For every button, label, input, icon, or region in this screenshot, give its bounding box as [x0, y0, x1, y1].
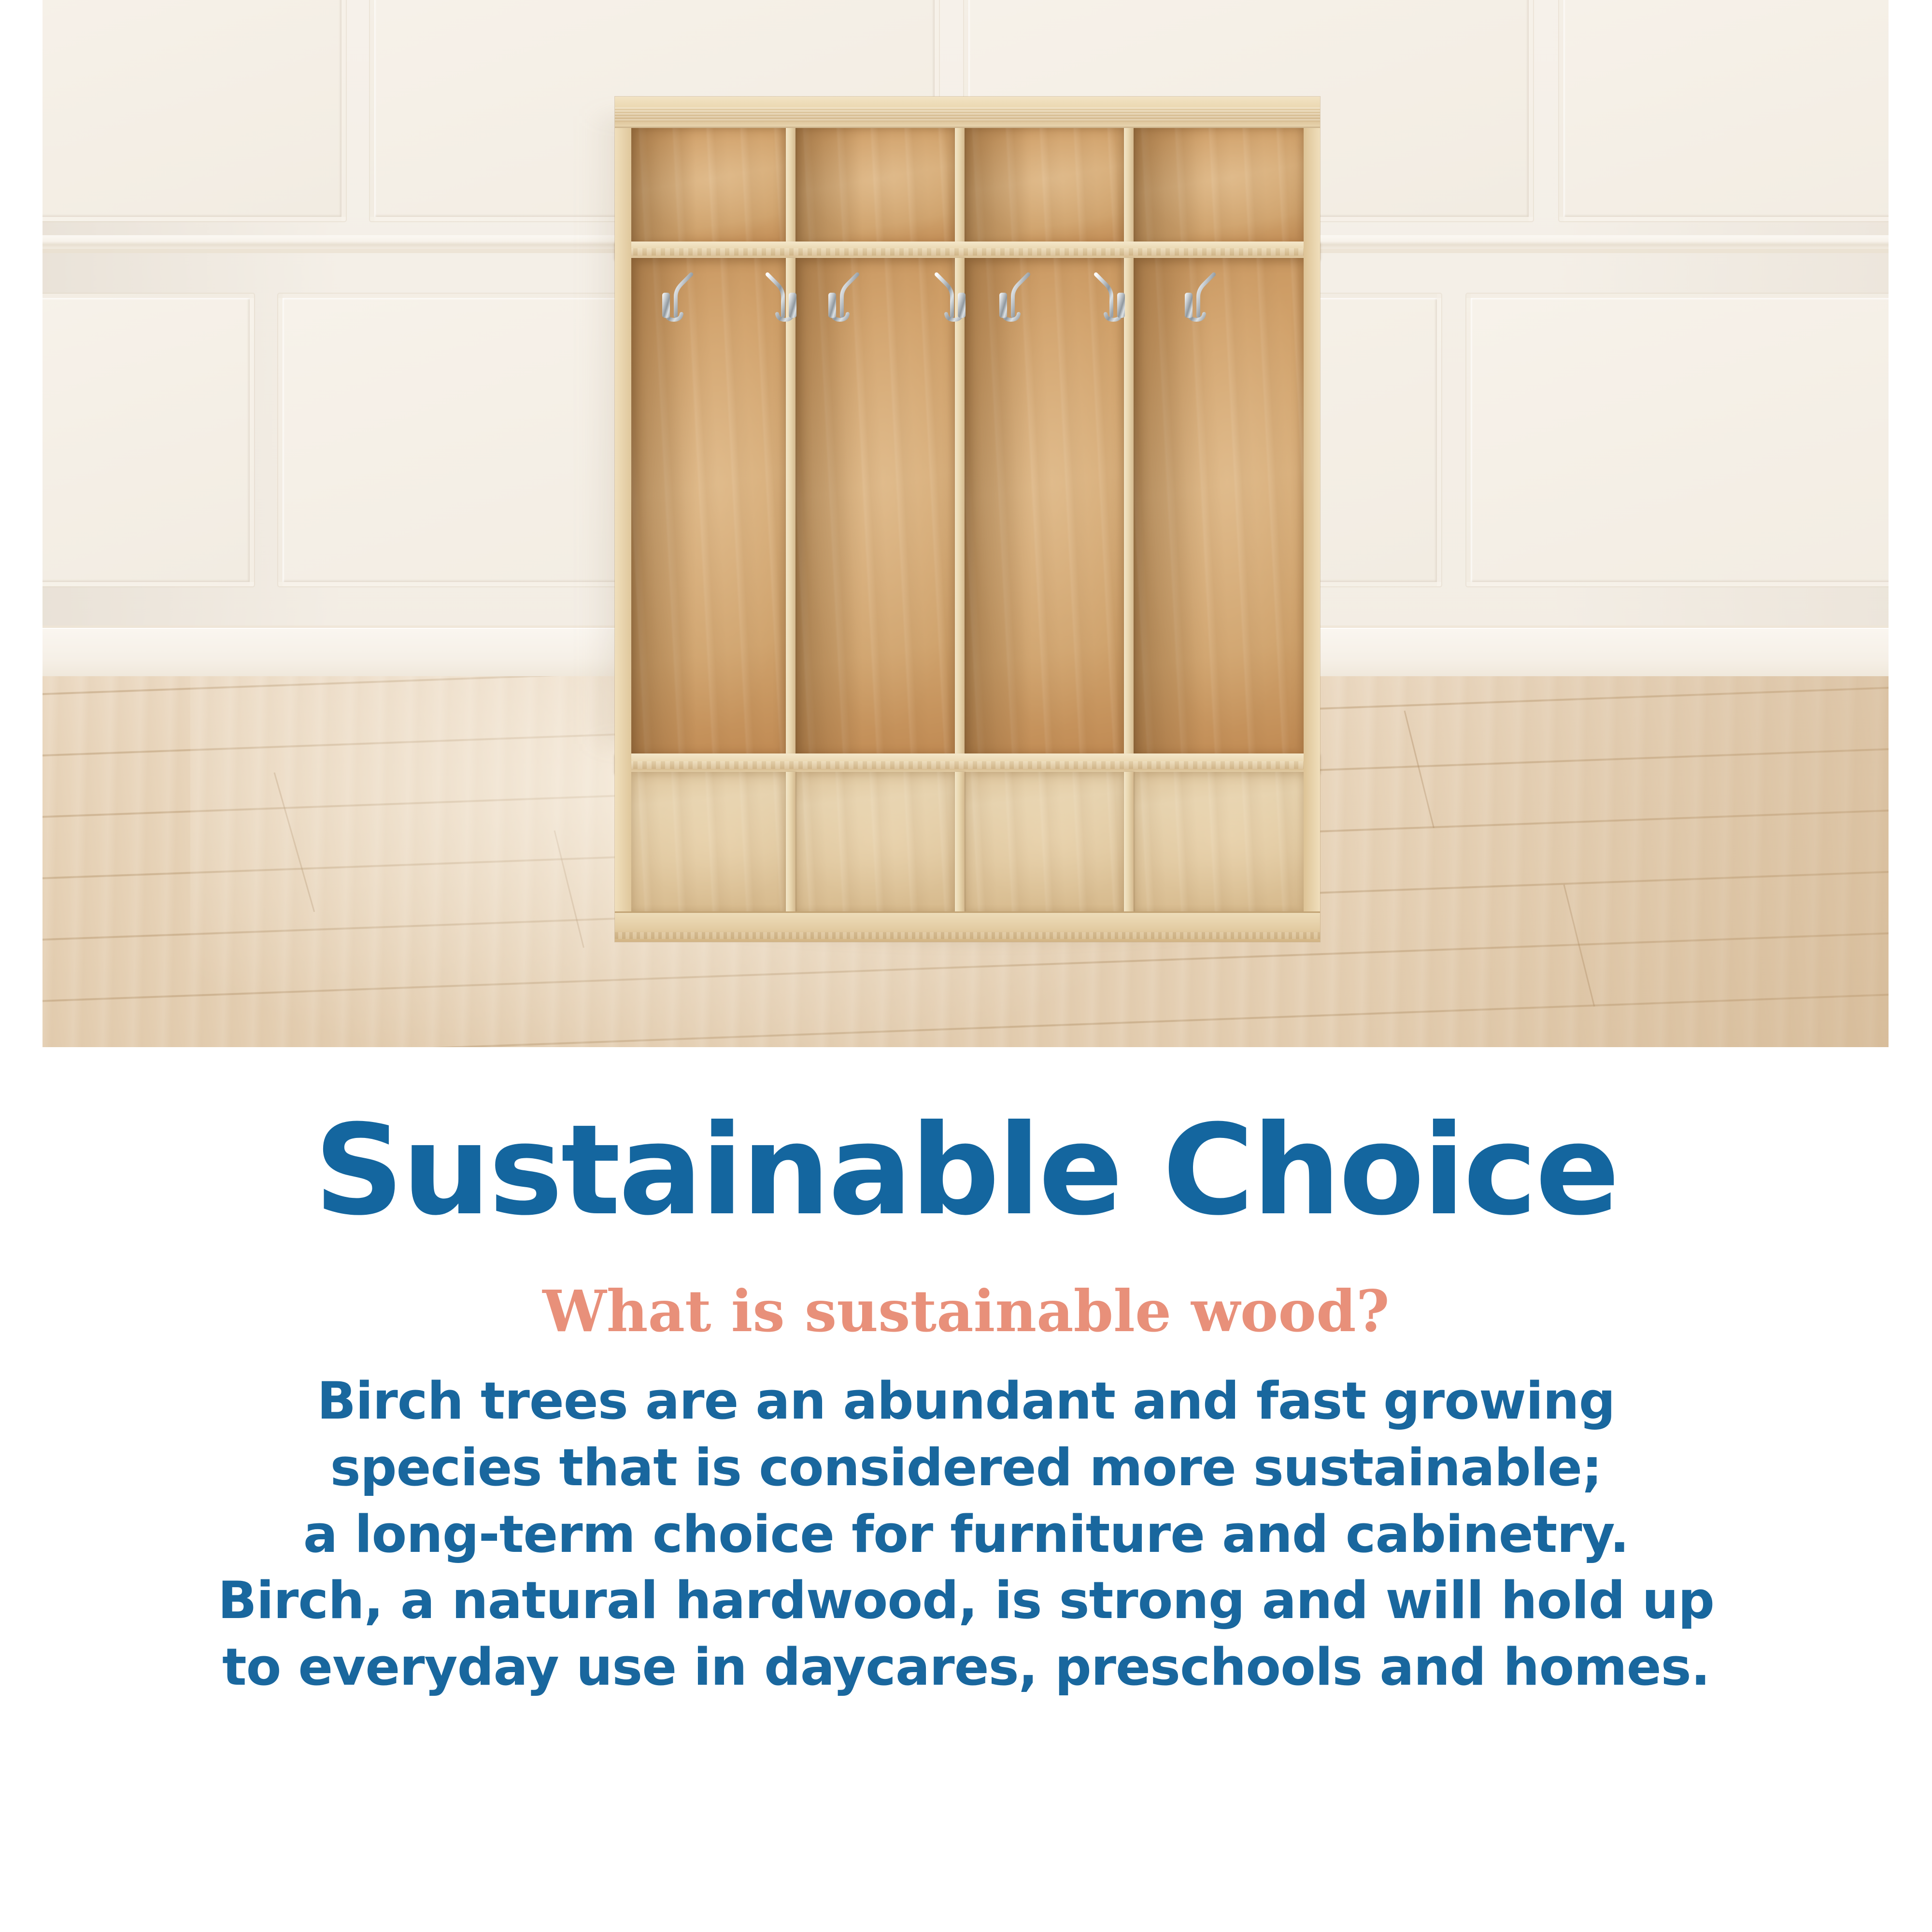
hook-7: [1180, 270, 1222, 327]
shoe-divider-1: [786, 772, 796, 913]
shoe-cubby-4-grain: [1134, 772, 1304, 913]
bench-shelf-plywood-edge: [615, 761, 1320, 769]
locker-top-plywood-edge: [615, 107, 1320, 122]
bay-divider-3: [1124, 258, 1134, 755]
double-hook-icon: [929, 270, 970, 327]
bay-1-shade: [631, 258, 696, 755]
double-hook-icon: [657, 270, 699, 327]
shoe-divider-2: [955, 772, 965, 913]
cubby-4: [1134, 125, 1304, 245]
bay-divider-1: [786, 258, 796, 755]
panel-lower-1: [43, 294, 254, 586]
double-hook-icon: [760, 270, 801, 327]
shoe-divider-3: [1124, 772, 1134, 913]
body-line-4: Birch, a natural hardwood, is strong and…: [0, 1567, 1932, 1634]
locker-right-panel: [1304, 97, 1320, 942]
locker-base-plywood-edge: [615, 932, 1320, 939]
locker-top-cap: [615, 97, 1320, 128]
bay-3-shade: [965, 258, 1032, 755]
bay-4-shade: [1134, 258, 1205, 755]
top-divider-2: [955, 125, 965, 245]
bay-divider-2: [955, 258, 965, 755]
body-line-2: species that is considered more sustaina…: [0, 1435, 1932, 1501]
body-line-1: Birch trees are an abundant and fast gro…: [0, 1368, 1932, 1435]
body-line-5: to everyday use in daycares, preschools …: [0, 1634, 1932, 1701]
bench-shelf: [615, 753, 1320, 773]
shoe-cubby-2-grain: [796, 772, 955, 913]
upper-shelf-plywood-edge: [615, 248, 1320, 255]
hook-2: [760, 270, 801, 327]
panel-lower-4: [1466, 294, 1889, 586]
top-divider-1: [786, 125, 796, 245]
shoe-cubby-4: [1134, 772, 1304, 913]
double-hook-icon: [1180, 270, 1222, 327]
double-hook-icon: [824, 270, 865, 327]
panel-upper-4: [1559, 0, 1889, 221]
birch-coat-locker: [615, 97, 1320, 942]
hook-4: [929, 270, 970, 327]
hook-5: [994, 270, 1036, 327]
shoe-cubby-2: [796, 772, 955, 913]
locker-left-panel: [615, 97, 631, 942]
shoe-cubby-3-grain: [965, 772, 1124, 913]
shoe-cubby-1: [631, 772, 786, 913]
upper-shelf: [615, 241, 1320, 259]
hook-6: [1088, 270, 1130, 327]
hook-1: [657, 270, 699, 327]
floor-right-shading: [1335, 676, 1889, 1047]
shoe-cubby-1-grain: [631, 772, 786, 913]
body-line-3: a long-term choice for furniture and cab…: [0, 1501, 1932, 1568]
cubby-1: [631, 125, 786, 245]
bay-3: [965, 258, 1124, 755]
cubby-3-shade: [965, 125, 1032, 245]
cubby-2-shade: [796, 125, 863, 245]
double-hook-icon: [994, 270, 1036, 327]
double-hook-icon: [1088, 270, 1130, 327]
cubby-2: [796, 125, 955, 245]
section-subheading: What is sustainable wood?: [0, 1233, 1932, 1340]
cubby-4-shade: [1134, 125, 1205, 245]
bay-4: [1134, 258, 1304, 755]
product-photo: [43, 0, 1889, 1047]
cubby-3: [965, 125, 1124, 245]
bay-2: [796, 258, 955, 755]
top-divider-3: [1124, 125, 1134, 245]
body-paragraph: Birch trees are an abundant and fast gro…: [0, 1340, 1932, 1701]
panel-upper-1: [43, 0, 346, 221]
shoe-cubby-3: [965, 772, 1124, 913]
page-title: Sustainable Choice: [0, 1047, 1932, 1233]
marketing-copy-block: Sustainable Choice What is sustainable w…: [0, 1047, 1932, 1701]
hook-3: [824, 270, 865, 327]
locker-base-plinth: [615, 911, 1320, 942]
bay-1: [631, 258, 786, 755]
bay-2-shade: [796, 258, 863, 755]
cubby-1-shade: [631, 125, 696, 245]
